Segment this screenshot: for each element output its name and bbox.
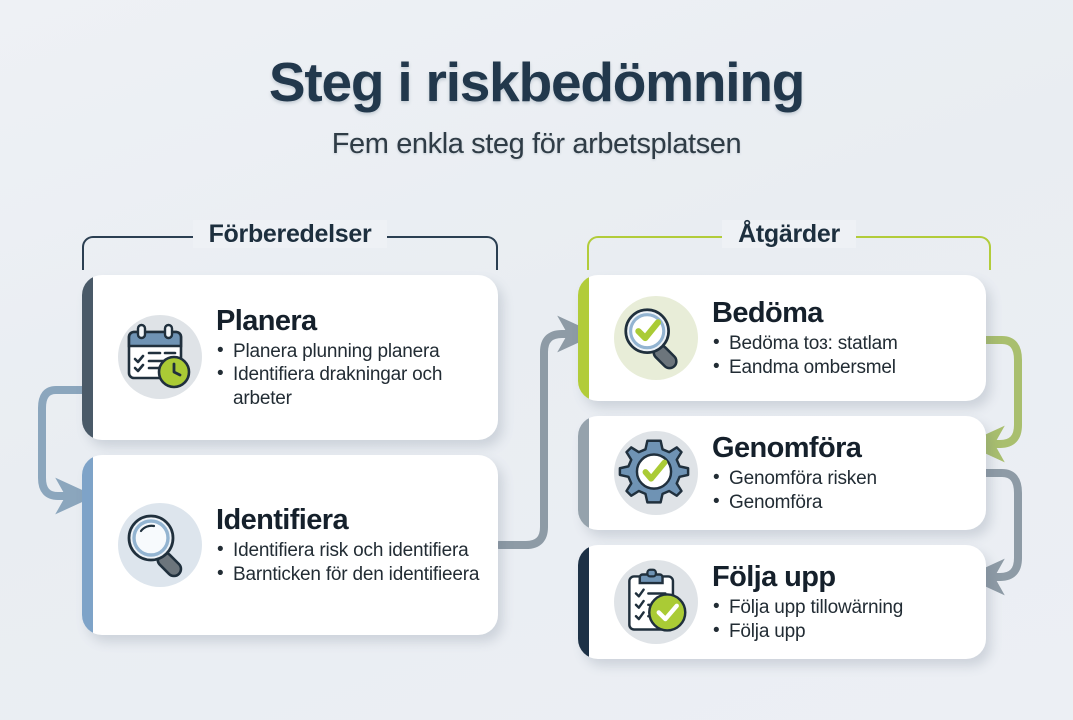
card-accent-genomfora — [578, 416, 589, 530]
magnifier-check-icon — [602, 286, 706, 390]
card-accent-folja-upp — [578, 545, 589, 659]
arrow-genomfora-to-folja-upp — [984, 473, 1018, 577]
page-subtitle: Fem enkla steg för arbetsplatsen — [0, 128, 1073, 161]
bullet-item: Eandma ombersmel — [712, 356, 898, 379]
bullet-item: Genomföra — [712, 491, 877, 514]
card-accent-identifiera — [82, 455, 93, 635]
group-bracket-left: Förberedelser — [82, 222, 498, 274]
card-genomfora[interactable]: Genomföra Genomföra risken Genomföra — [578, 416, 986, 530]
calendar-clock-icon — [106, 305, 210, 409]
card-bullets-identifiera: Identifiera risk och identifiera Barntic… — [216, 539, 479, 586]
card-accent-bedoma — [578, 275, 589, 401]
card-title-identifiera: Identifiera — [216, 504, 479, 537]
bullet-item: Barnticken för den identifieera — [216, 563, 479, 586]
page-title: Steg i riskbedömning — [0, 54, 1073, 112]
card-bullets-genomfora: Genomföra risken Genomföra — [712, 467, 877, 514]
bullet-item: Planera plunning planera — [216, 340, 484, 363]
card-bedoma[interactable]: Bedöma Bedöma toɜ: statlam Eandma ombers… — [578, 275, 986, 401]
infographic-header: Steg i riskbedömning Fem enkla steg för … — [0, 54, 1073, 161]
card-accent-planera — [82, 275, 93, 440]
bullet-item: Genomföra risken — [712, 467, 877, 490]
bullet-item: Identifiera risk och identifiera — [216, 539, 479, 562]
magnifier-icon — [106, 493, 210, 597]
arrow-bedoma-to-genomfora — [984, 340, 1018, 444]
bullet-item: Följa upp — [712, 620, 903, 643]
group-label-atgarder: Åtgärder — [587, 220, 991, 249]
card-title-planera: Planera — [216, 305, 484, 338]
card-title-genomfora: Genomföra — [712, 432, 877, 465]
group-label-forberedelser: Förberedelser — [82, 220, 498, 249]
card-bullets-folja-upp: Följa upp tillowärning Följa upp — [712, 596, 903, 643]
card-title-bedoma: Bedöma — [712, 297, 898, 330]
bullet-item: Identifiera drakningar och arbeter — [216, 363, 484, 410]
card-bullets-planera: Planera plunning planera Identifiera dra… — [216, 340, 484, 410]
clipboard-check-icon — [602, 550, 706, 654]
card-folja-upp[interactable]: Följa upp Följa upp tillowärning Följa u… — [578, 545, 986, 659]
group-bracket-right: Åtgärder — [587, 222, 991, 274]
card-planera[interactable]: Planera Planera plunning planera Identif… — [82, 275, 498, 440]
card-identifiera[interactable]: Identifiera Identifiera risk och identif… — [82, 455, 498, 635]
arrow-identifiera-to-bedoma — [499, 334, 578, 545]
bullet-item: Följa upp tillowärning — [712, 596, 903, 619]
gear-check-icon — [602, 421, 706, 525]
card-bullets-bedoma: Bedöma toɜ: statlam Eandma ombersmel — [712, 332, 898, 379]
bullet-item: Bedöma toɜ: statlam — [712, 332, 898, 355]
arrow-planera-to-identifiera — [42, 390, 82, 496]
card-title-folja-upp: Följa upp — [712, 561, 903, 594]
